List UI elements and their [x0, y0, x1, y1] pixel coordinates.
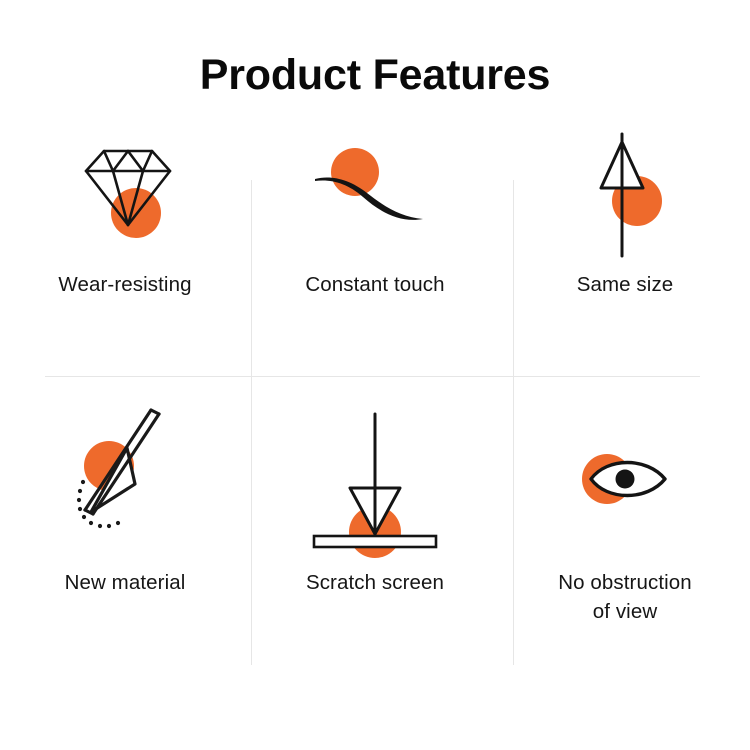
grid-divider-vertical-left	[251, 180, 252, 665]
eye-icon	[555, 400, 695, 568]
product-features-page: Product Features	[0, 0, 750, 750]
feature-label: Scratch screen	[306, 568, 444, 597]
feature-cell-same-size[interactable]: Same size	[500, 120, 750, 400]
grid-divider-horizontal	[45, 376, 700, 377]
grid-divider-vertical-right	[513, 180, 514, 665]
stylus-on-screen-icon	[305, 400, 445, 568]
feature-label: New material	[65, 568, 186, 597]
feature-cell-wear-resisting[interactable]: Wear-resisting	[0, 120, 250, 400]
feature-label: Same size	[577, 270, 674, 299]
feature-cell-scratch-screen[interactable]: Scratch screen	[250, 400, 500, 680]
stylus-vertical-icon	[555, 120, 695, 270]
tilted-stylus-icon	[55, 400, 195, 568]
brush-stroke-icon	[305, 120, 445, 270]
feature-cell-no-obstruction[interactable]: No obstruction of view	[500, 400, 750, 680]
feature-label: No obstruction of view	[558, 568, 692, 626]
feature-grid: Wear-resisting Constant touch	[0, 120, 750, 680]
page-title: Product Features	[0, 51, 750, 100]
feature-label: Wear-resisting	[58, 270, 191, 299]
feature-cell-constant-touch[interactable]: Constant touch	[250, 120, 500, 400]
feature-cell-new-material[interactable]: New material	[0, 400, 250, 680]
diamond-icon	[55, 120, 195, 270]
feature-label: Constant touch	[305, 270, 444, 299]
